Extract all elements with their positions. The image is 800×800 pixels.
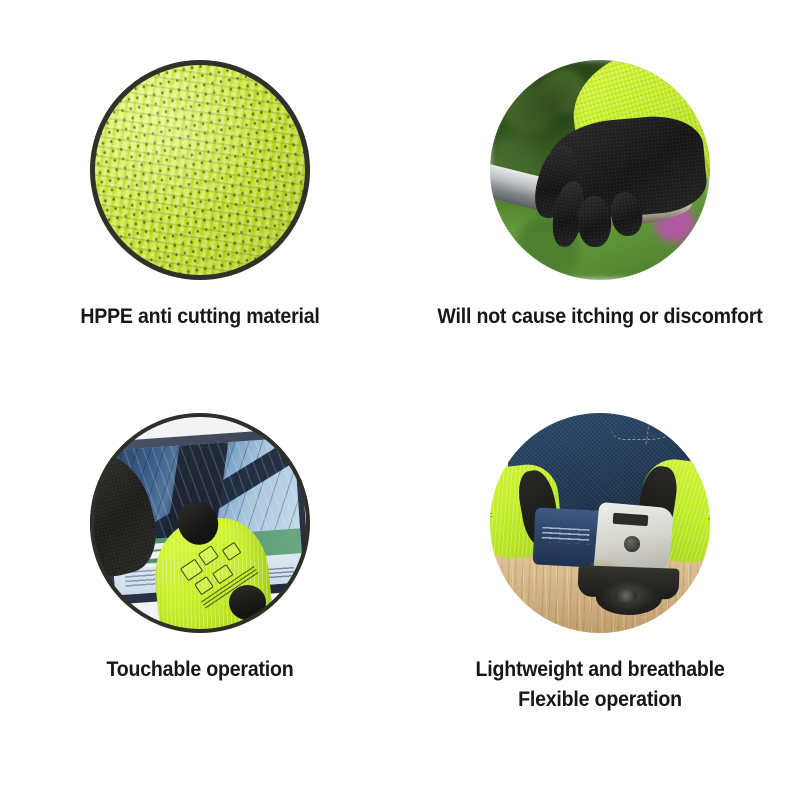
caption-line: Lightweight and breathable: [414, 655, 786, 685]
glove-finger: [577, 196, 612, 248]
pictogram-box: [180, 558, 203, 580]
grinder-bolt: [624, 536, 639, 551]
caption-line: Touchable operation: [14, 655, 386, 685]
circular-photo-frame: [490, 60, 710, 280]
photo-shading-overlay: [90, 60, 310, 280]
circular-photo-frame: [490, 413, 710, 633]
pictogram-box: [194, 575, 213, 594]
feature-card-no-itching-or-discomfort: Will not cause itching or discomfort: [400, 60, 800, 332]
circular-photo-frame: [90, 413, 310, 633]
caption-line: Will not cause itching or discomfort: [414, 302, 786, 332]
pictogram-box: [212, 564, 233, 584]
circular-photo-frame: [90, 60, 310, 280]
feature-image-gloved-finger-touching-tablet: [90, 413, 310, 633]
denim-seam-stitching: [645, 413, 688, 450]
feature-caption: HPPE anti cutting material: [14, 302, 386, 332]
feature-caption: Touchable operation: [14, 655, 386, 685]
feature-card-lightweight-breathable-flexible: Lightweight and breathable Flexible oper…: [400, 413, 800, 715]
pictogram-box: [222, 542, 241, 561]
feature-grid-page: HPPE anti cutting material: [0, 0, 800, 800]
feature-caption: Lightweight and breathable Flexible oper…: [414, 655, 786, 715]
feature-card-touchable-operation: Touchable operation: [0, 413, 400, 685]
feature-image-gloved-hand-holding-blade: [490, 60, 710, 280]
feature-card-hppe-anti-cutting-material: HPPE anti cutting material: [0, 60, 400, 332]
caption-line: HPPE anti cutting material: [14, 302, 386, 332]
caption-line: Flexible operation: [414, 685, 786, 715]
nitrile-grip-texture: [577, 196, 612, 248]
feature-image-gloved-hands-using-angle-grinder: [490, 413, 710, 633]
feature-caption: Will not cause itching or discomfort: [414, 302, 786, 332]
feature-image-hppe-knit-fabric-closeup: [90, 60, 310, 280]
grinder-vent-slots: [542, 527, 589, 544]
